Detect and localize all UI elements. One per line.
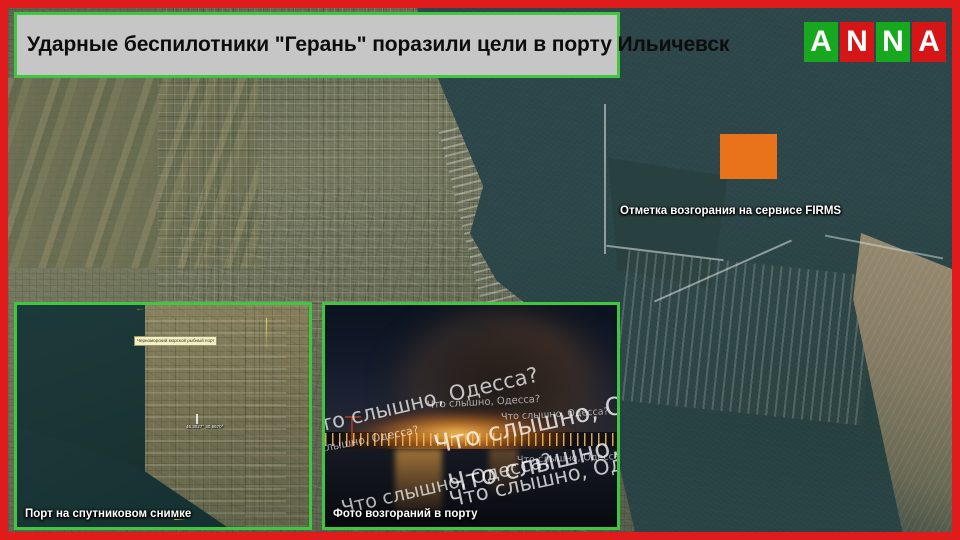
inset-satellite-caption: Порт на спутниковом снимке <box>25 508 191 520</box>
photo-crane <box>351 416 353 447</box>
inset-photo-caption: Фото возгораний в порту <box>333 508 478 520</box>
photo-water-reflection <box>395 449 442 516</box>
photo-water-reflection-2 <box>489 449 518 498</box>
pier-line-1 <box>604 104 606 254</box>
logo-letter-3: N <box>876 22 910 62</box>
photo-port-lights <box>325 433 617 446</box>
firms-fire-marker <box>720 134 777 179</box>
logo-letter-1: A <box>804 22 838 62</box>
headline-banner: Ударные беспилотники "Герань" поразили ц… <box>14 12 620 78</box>
port-terminal-south <box>613 250 877 425</box>
logo-letter-2: N <box>840 22 874 62</box>
page-title: Ударные беспилотники "Герань" поразили ц… <box>17 33 739 56</box>
anna-logo: A N N A <box>804 22 946 62</box>
inset-sat-coordinate-label: 46.3027° 30.6670° <box>186 424 223 429</box>
firms-marker-caption: Отметка возгорания на сервисе FIRMS <box>620 205 841 217</box>
logo-letter-4: A <box>912 22 946 62</box>
inset-fire-photo: Что слышно, Одесса? Что слышно, Одесса? … <box>322 302 620 530</box>
inset-sat-coordinate-pin <box>196 414 198 424</box>
infographic-root: Ударные беспилотники "Герань" поразили ц… <box>0 0 960 540</box>
inset-sat-place-label: Черноморский морской рыбный порт <box>134 336 217 346</box>
